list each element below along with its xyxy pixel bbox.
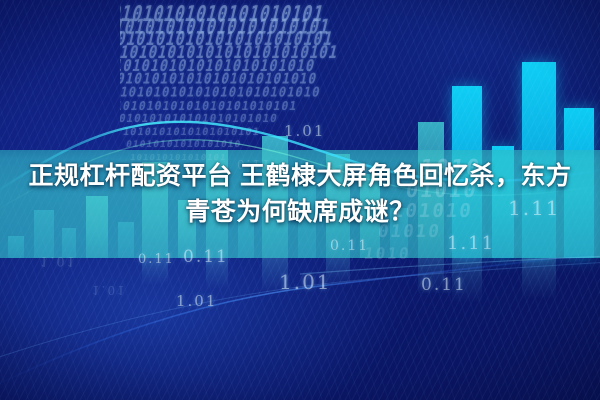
banner-image: 0101010101010101010101101010101010101010… (0, 0, 600, 400)
vignette-overlay (0, 0, 600, 400)
